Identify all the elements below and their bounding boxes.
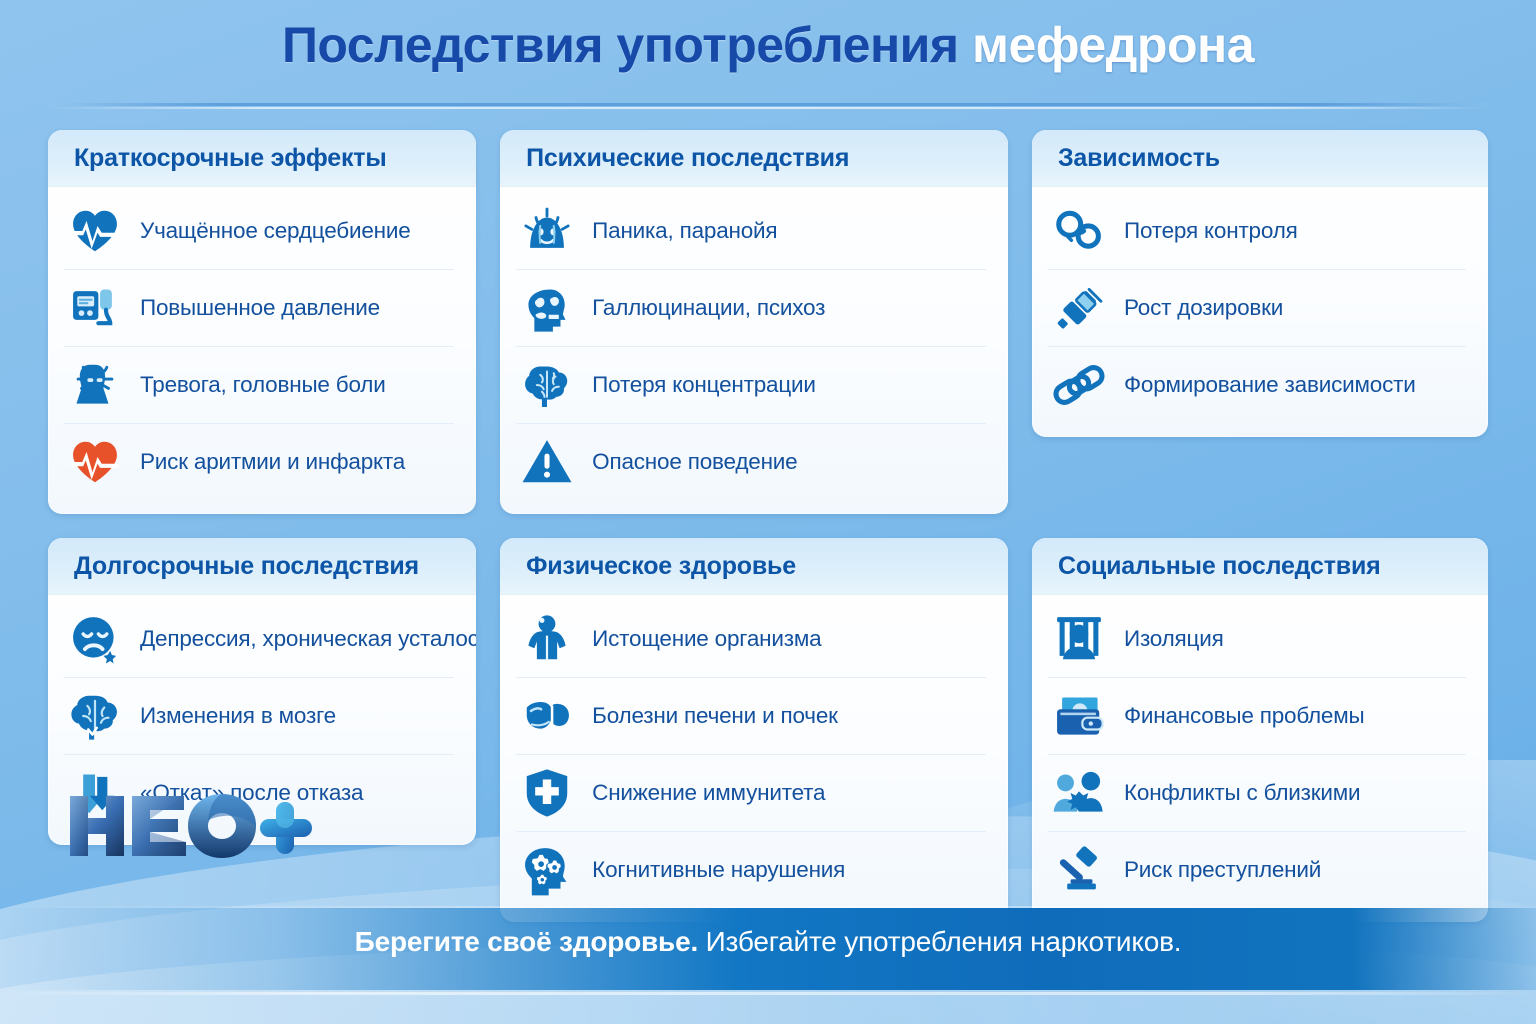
card-title: Психические последствия (526, 144, 982, 173)
card-body: Изоляция (1032, 595, 1488, 922)
card-title: Физическое здоровье (526, 552, 982, 581)
list-item-label: Учащённое сердцебиение (140, 218, 411, 244)
list-item-label: Изоляция (1124, 626, 1224, 652)
list-item[interactable]: Болезни печени и почек (516, 678, 986, 755)
card-title: Краткосрочные эффекты (74, 144, 450, 173)
card-short-term-effects: Краткосрочные эффекты Учащённое сердцеби… (48, 130, 476, 514)
list-item[interactable]: Потеря концентрации (516, 347, 986, 424)
card-header: Физическое здоровье (500, 538, 1008, 595)
list-item[interactable]: Финансовые проблемы (1048, 678, 1466, 755)
card-body: Истощение организма Болез (500, 595, 1008, 922)
header-divider (48, 103, 1488, 106)
list-item-label: Финансовые проблемы (1124, 703, 1365, 729)
list-item-label: Рост дозировки (1124, 295, 1283, 321)
list-item-label: Формирование зависимости (1124, 372, 1416, 398)
shield-cross-icon (516, 764, 578, 822)
liver-kidney-icon (516, 687, 578, 745)
card-social-consequences: Социальные последствия (1032, 538, 1488, 922)
thin-person-icon (516, 610, 578, 668)
cards-row-bottom: Долгосрочные последствия Депрессия, (48, 538, 1488, 922)
title-main-text: Последствия употребления (282, 17, 959, 73)
card-title: Социальные последствия (1058, 552, 1462, 581)
card-title: Зависимость (1058, 144, 1462, 173)
list-item-label: Изменения в мозге (140, 703, 336, 729)
head-gears-icon (516, 841, 578, 899)
list-item[interactable]: Учащённое сердцебиение (64, 193, 454, 270)
list-item[interactable]: Риск преступлений (1048, 832, 1466, 908)
footer-message: Берегите своё здоровье. Избегайте употре… (0, 926, 1536, 958)
list-item-label: Паника, паранойя (592, 218, 777, 244)
list-item[interactable]: Когнитивные нарушения (516, 832, 986, 908)
blood-pressure-monitor-icon (64, 279, 126, 337)
list-item[interactable]: Риск аритмии и инфаркта (64, 424, 454, 500)
warning-triangle-icon (516, 433, 578, 491)
card-dependence: Зависимость Потеря контроля (1032, 130, 1488, 437)
list-item-label: Галлюцинации, психоз (592, 295, 825, 321)
card-header: Социальные последствия (1032, 538, 1488, 595)
syringe-icon (1048, 279, 1110, 337)
card-header: Краткосрочные эффекты (48, 130, 476, 187)
infographic-poster: Последствия употребления мефедрона Кратк… (0, 0, 1536, 1024)
handcuffs-icon (1048, 202, 1110, 260)
panic-face-icon (516, 202, 578, 260)
list-item-label: Риск аритмии и инфаркта (140, 449, 405, 475)
footer-strong-text: Берегите своё здоровье. (355, 926, 698, 957)
wallet-icon (1048, 687, 1110, 745)
list-item[interactable]: Депрессия, хроническая усталость (64, 601, 454, 678)
title-accent-text: мефедрона (972, 17, 1254, 73)
footer-normal-text: Избегайте употребления наркотиков. (706, 926, 1182, 957)
list-item-label: Повышенное давление (140, 295, 380, 321)
headache-person-icon (64, 356, 126, 414)
list-item[interactable]: Галлюцинации, психоз (516, 270, 986, 347)
heart-pulse-icon (64, 202, 126, 260)
list-item[interactable]: Изоляция (1048, 601, 1466, 678)
list-item-label: Потеря концентрации (592, 372, 816, 398)
gavel-icon (1048, 841, 1110, 899)
list-item[interactable]: Опасное поведение (516, 424, 986, 500)
list-item-label: Риск преступлений (1124, 857, 1321, 883)
header-divider-highlight (48, 107, 1488, 109)
list-item[interactable]: Изменения в мозге (64, 678, 454, 755)
list-item-label: Болезни печени и почек (592, 703, 838, 729)
footer-bottom-highlight (0, 992, 1536, 995)
card-mental-consequences: Психические последствия (500, 130, 1008, 514)
card-body: Учащённое сердцебиение (48, 187, 476, 514)
list-item[interactable]: Тревога, головные боли (64, 347, 454, 424)
list-item[interactable]: Рост дозировки (1048, 270, 1466, 347)
list-item-label: Потеря контроля (1124, 218, 1298, 244)
card-header: Психические последствия (500, 130, 1008, 187)
list-item[interactable]: Истощение организма (516, 601, 986, 678)
list-item[interactable]: Конфликты с близкими (1048, 755, 1466, 832)
list-item[interactable]: Потеря контроля (1048, 193, 1466, 270)
card-body: Паника, паранойя Галлюцин (500, 187, 1008, 514)
conflict-people-icon (1048, 764, 1110, 822)
heart-arrhythmia-red-icon (64, 433, 126, 491)
brain-damage-icon (64, 687, 126, 745)
poster-title: Последствия употребления мефедрона (0, 18, 1536, 73)
list-item-label: Когнитивные нарушения (592, 857, 845, 883)
chain-link-icon (1048, 356, 1110, 414)
brain-icon (516, 356, 578, 414)
card-title: Долгосрочные последствия (74, 552, 450, 581)
list-item-label: Конфликты с близкими (1124, 780, 1360, 806)
card-body: Потеря контроля Рост дози (1032, 187, 1488, 437)
list-item-label: Снижение иммунитета (592, 780, 825, 806)
list-item[interactable]: Формирование зависимости (1048, 347, 1466, 423)
hallucination-head-icon (516, 279, 578, 337)
card-header: Зависимость (1032, 130, 1488, 187)
cards-row-top: Краткосрочные эффекты Учащённое сердцеби… (48, 130, 1488, 514)
list-item-label: Депрессия, хроническая усталость (140, 626, 476, 652)
list-item[interactable]: Снижение иммунитета (516, 755, 986, 832)
sad-face-icon (64, 610, 126, 668)
list-item[interactable]: Паника, паранойя (516, 193, 986, 270)
card-physical-health: Физическое здоровье Истощение орган (500, 538, 1008, 922)
prison-bars-person-icon (1048, 610, 1110, 668)
brand-logo: НЕО+ (64, 790, 344, 862)
list-item-label: Тревога, головные боли (140, 372, 386, 398)
card-header: Долгосрочные последствия (48, 538, 476, 595)
list-item[interactable]: Повышенное давление (64, 270, 454, 347)
list-item-label: Опасное поведение (592, 449, 797, 475)
list-item-label: Истощение организма (592, 626, 821, 652)
